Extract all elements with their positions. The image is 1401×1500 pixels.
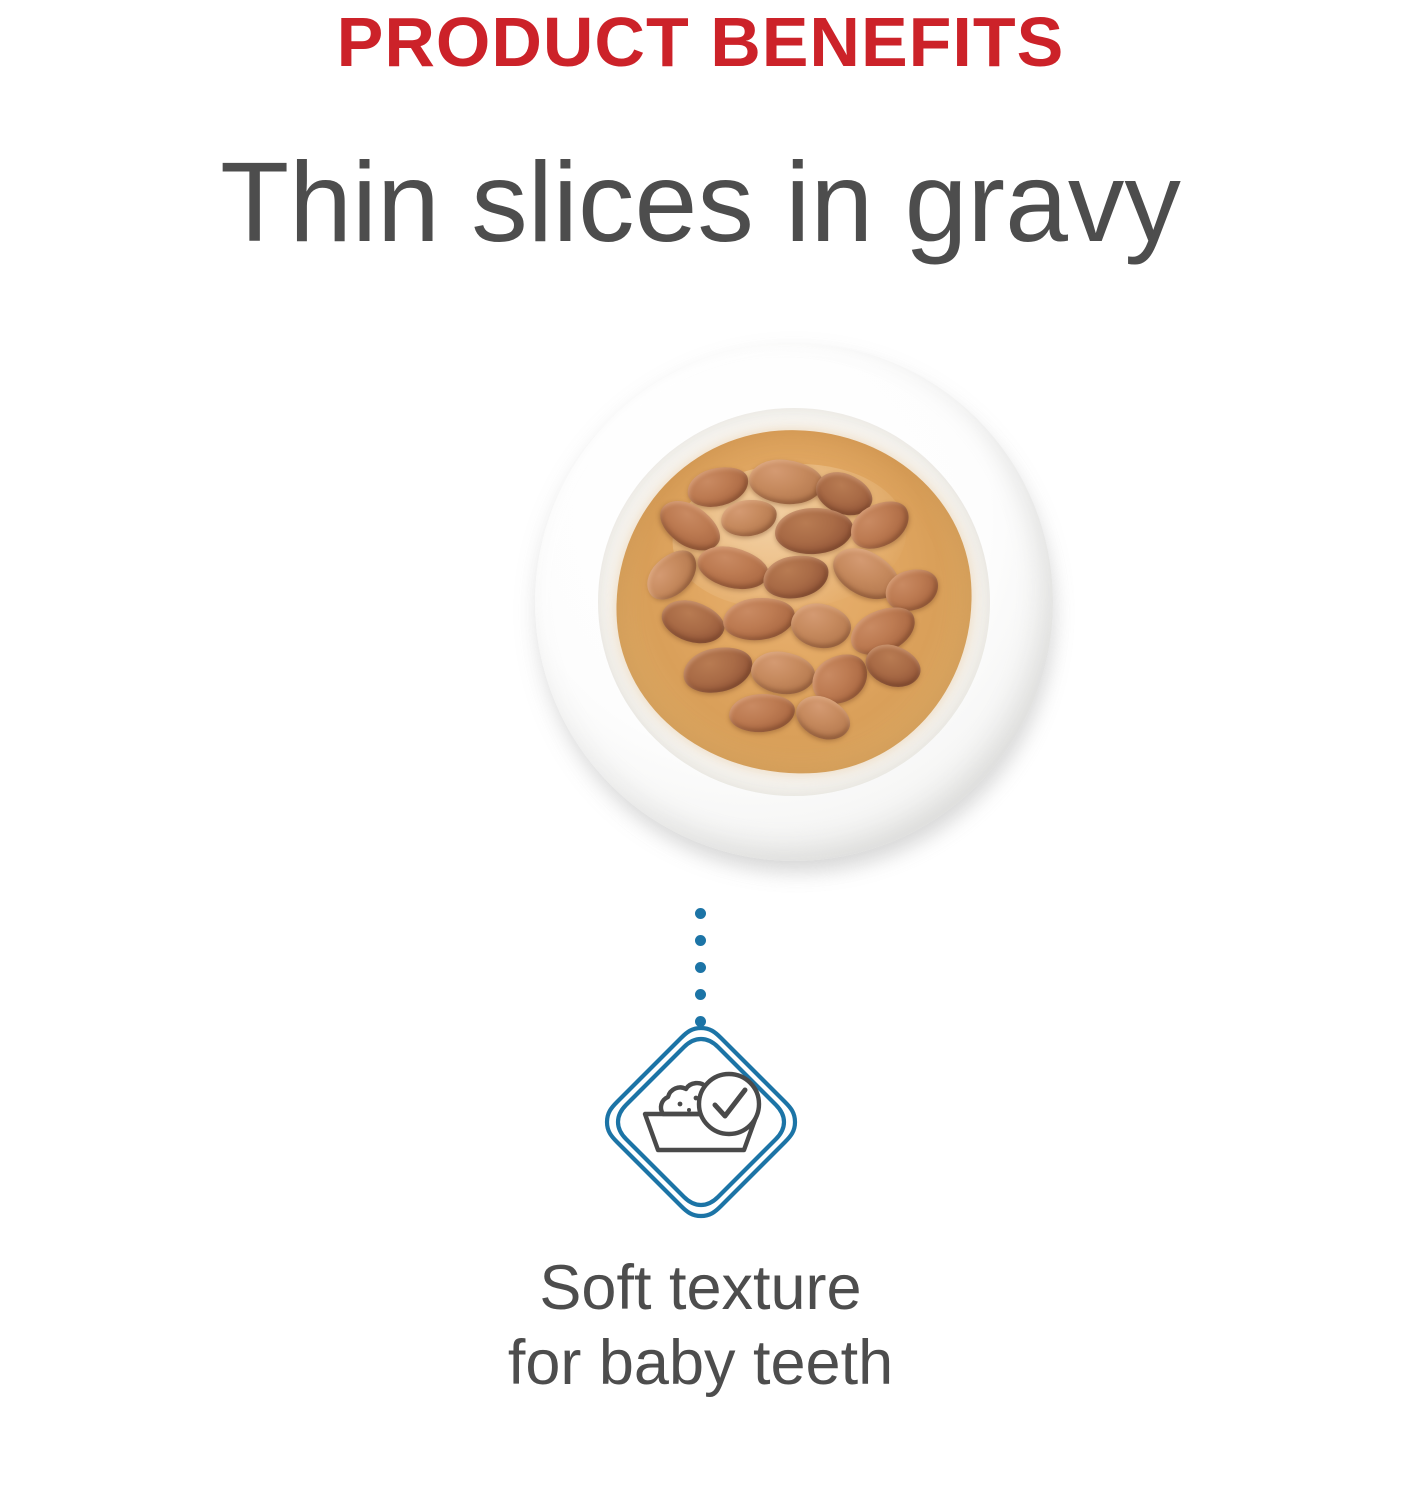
page-eyebrow-title: PRODUCT BENEFITS: [0, 6, 1401, 80]
product-benefits-page: PRODUCT BENEFITS Thin slices in gravy: [0, 0, 1401, 1500]
check-circle-icon: [699, 1074, 759, 1134]
brand-footer: [0, 1400, 1401, 1500]
badge-diamond-outer-icon: [607, 1028, 795, 1216]
connector-dot: [695, 962, 706, 973]
page-title: Thin slices in gravy: [0, 140, 1401, 264]
connector-dot: [695, 908, 706, 919]
connector-dot: [695, 935, 706, 946]
hero-food-bowl-image: [527, 337, 1073, 883]
dotted-connector-line: [694, 908, 708, 1027]
bowl-rim: [535, 343, 1053, 861]
benefit-caption: Soft texture for baby teeth: [0, 1251, 1401, 1401]
benefit-icon-badge: [601, 1022, 801, 1222]
connector-dot: [695, 989, 706, 1000]
badge-diamond-inner-icon: [618, 1039, 784, 1205]
meat-slices-group: [635, 452, 953, 752]
